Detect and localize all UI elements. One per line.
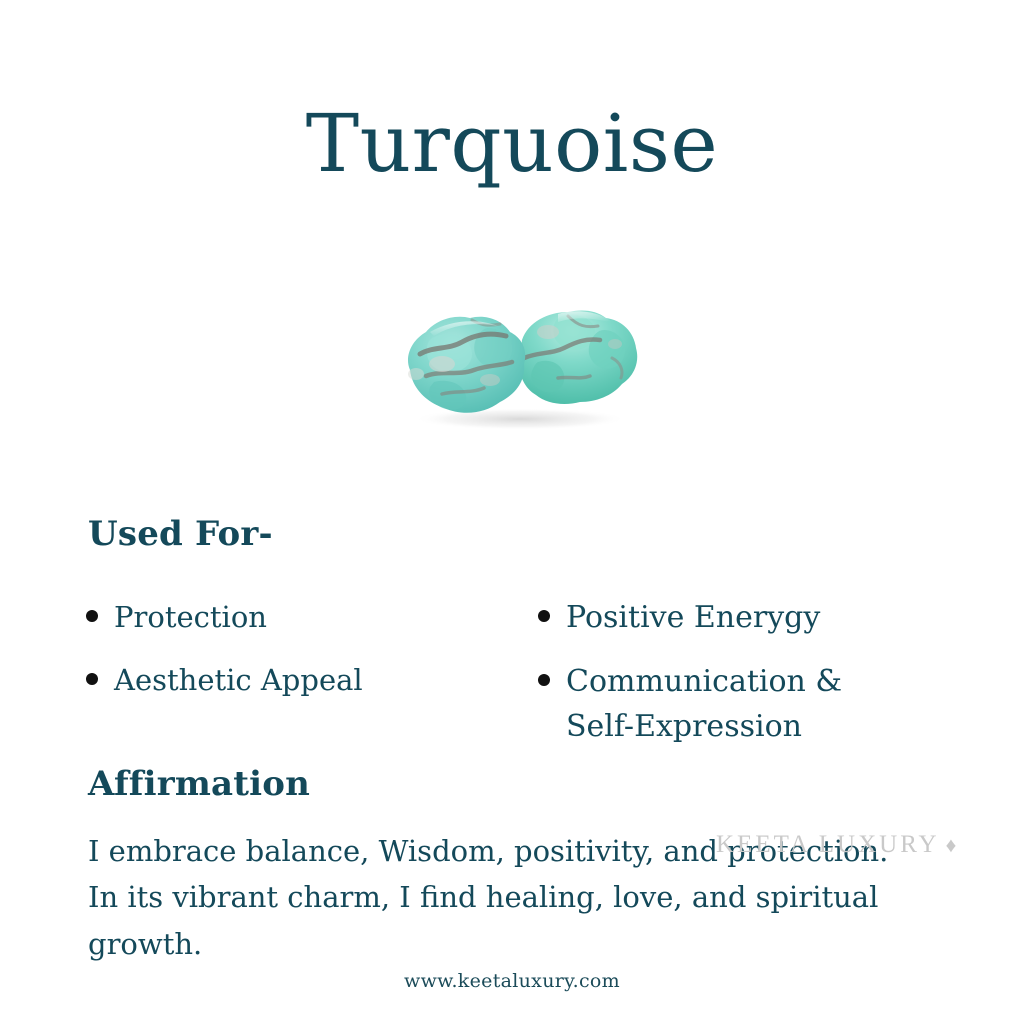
list-item: Protection bbox=[86, 596, 506, 639]
bullet-dot-icon bbox=[538, 610, 550, 622]
sparkle-icon: ♦ bbox=[946, 833, 957, 857]
page-title: Turquoise bbox=[0, 104, 1024, 184]
affirmation-body: I embrace balance, Wisdom, positivity, a… bbox=[88, 828, 918, 967]
used-for-column-left: Protection Aesthetic Appeal bbox=[86, 596, 506, 722]
used-for-list: Protection Aesthetic Appeal Positive Ene… bbox=[0, 596, 1024, 766]
used-for-column-right: Positive Enerygy Communication & Self-Ex… bbox=[538, 596, 958, 769]
list-item: Aesthetic Appeal bbox=[86, 659, 506, 702]
list-item-label: Communication & Self-Expression bbox=[566, 660, 842, 749]
footer-website-url[interactable]: www.keetaluxury.com bbox=[0, 970, 1024, 992]
list-item-label: Positive Enerygy bbox=[566, 596, 820, 640]
list-item: Communication & Self-Expression bbox=[538, 660, 958, 749]
list-item-label: Aesthetic Appeal bbox=[114, 659, 363, 702]
list-item-label: Protection bbox=[114, 596, 267, 639]
affirmation-heading: Affirmation bbox=[88, 766, 310, 803]
bullet-dot-icon bbox=[86, 673, 98, 685]
bullet-dot-icon bbox=[538, 674, 550, 686]
turquoise-info-card: Turquoise bbox=[0, 0, 1024, 1024]
used-for-heading: Used For- bbox=[88, 516, 273, 553]
list-item: Positive Enerygy bbox=[538, 596, 958, 640]
bullet-dot-icon bbox=[86, 610, 98, 622]
turquoise-stones-image bbox=[372, 292, 658, 432]
